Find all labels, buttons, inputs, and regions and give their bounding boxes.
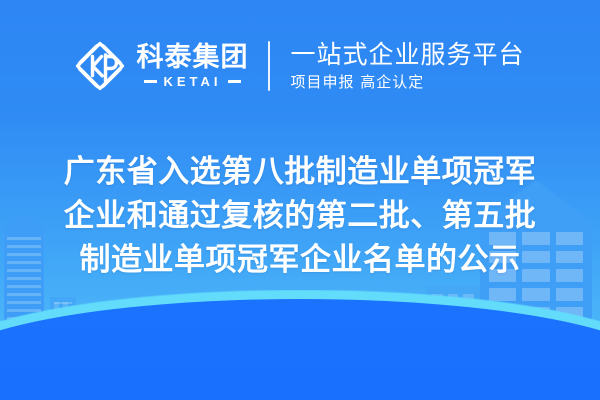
headline-line-3: 制造业单项冠军企业名单的公示 — [0, 238, 600, 282]
banner-headline: 广东省入选第八批制造业单项冠军 企业和通过复核的第二批、第五批 制造业单项冠军企… — [0, 150, 600, 282]
ketai-logo-icon — [75, 41, 125, 91]
brand-name-en-row: KETAI — [144, 75, 240, 88]
brand-name-cn: 科泰集团 — [136, 44, 248, 72]
promo-banner: 科泰集团 KETAI 一站式企业服务平台 项目申报 高企认定 广东省入选第八批制… — [0, 0, 600, 400]
tagline-block: 一站式企业服务平台 项目申报 高企认定 — [290, 40, 524, 93]
headline-line-1: 广东省入选第八批制造业单项冠军 — [0, 150, 600, 194]
brand-lockup[interactable]: 科泰集团 KETAI — [75, 41, 248, 91]
curve-base-fill — [0, 299, 600, 400]
tagline-sub: 项目申报 高企认定 — [290, 73, 524, 93]
headline-line-2: 企业和通过复核的第二批、第五批 — [0, 194, 600, 238]
banner-header: 科泰集团 KETAI 一站式企业服务平台 项目申报 高企认定 — [0, 0, 600, 132]
tagline-main: 一站式企业服务平台 — [290, 40, 524, 70]
brand-name-en: KETAI — [163, 75, 221, 88]
brand-wordmark: 科泰集团 KETAI — [136, 44, 248, 88]
bottom-curve-decoration — [0, 290, 600, 400]
dash-left-icon — [144, 80, 157, 83]
vertical-divider — [268, 41, 270, 91]
dash-right-icon — [228, 80, 241, 83]
